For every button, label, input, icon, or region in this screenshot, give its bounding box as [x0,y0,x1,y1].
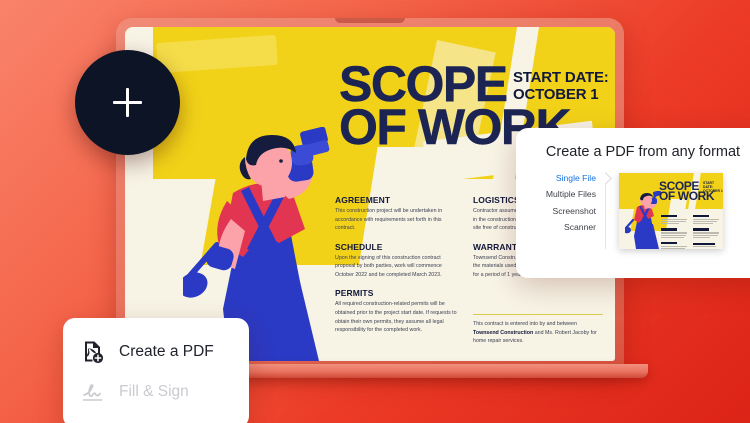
menu-item-create-a-pdf[interactable]: Create a PDF [63,332,249,372]
laptop-base [228,364,648,378]
poster-section-heading: AGREEMENT [335,195,459,205]
laptop-notch [335,18,405,23]
format-option-multiple-files[interactable]: Multiple Files [526,189,596,199]
thumb-right-column [693,215,719,248]
menu-item-label: Fill & Sign [119,383,189,401]
menu-item-fill-and-sign[interactable]: Fill & Sign [63,372,249,412]
signature-icon [80,379,106,405]
poster-section-heading: SCHEDULE [335,242,459,252]
format-option-screenshot[interactable]: Screenshot [526,206,596,216]
format-options-list: Single File Multiple Files Screenshot Sc… [526,173,606,249]
format-option-scanner[interactable]: Scanner [526,222,596,232]
create-pdf-format-panel: Create a PDF from any format Single File… [516,128,750,278]
poster-section-heading: PERMITS [335,288,459,298]
panel-body: Single File Multiple Files Screenshot Sc… [516,173,750,249]
thumb-start-date: START DATE: OCTOBER 1 [703,182,723,194]
selection-caret-icon [599,172,612,185]
action-menu-card: Create a PDF Fill & Sign [63,318,249,423]
plus-icon [126,88,129,117]
thumb-left-column [661,215,687,249]
screenshot-root: SCOPE OF WORK START DATE: OCTOBER 1 AGRE… [0,0,750,423]
poster-footer-prefix: This contract is entered into by and bet… [473,321,577,327]
pdf-add-icon [80,339,106,365]
panel-title: Create a PDF from any format [516,144,750,162]
document-preview-thumbnail[interactable]: SCOPE OF WORK START DATE: OCTOBER 1 [619,173,723,249]
poster-section-body: All required construction-related permit… [335,300,459,334]
add-button[interactable] [75,50,180,155]
poster-section-body: Upon the signing of this construction co… [335,254,459,280]
menu-item-label: Create a PDF [119,343,214,361]
poster-left-column: AGREEMENT This construction project will… [335,195,459,344]
poster-footer: This contract is entered into by and bet… [473,314,603,346]
poster-start-date: START DATE: OCTOBER 1 [513,69,609,103]
format-option-single-file[interactable]: Single File [526,173,596,183]
poster-footer-company: Townsend Construction [473,330,533,336]
poster-section-body: This construction project will be undert… [335,207,459,233]
